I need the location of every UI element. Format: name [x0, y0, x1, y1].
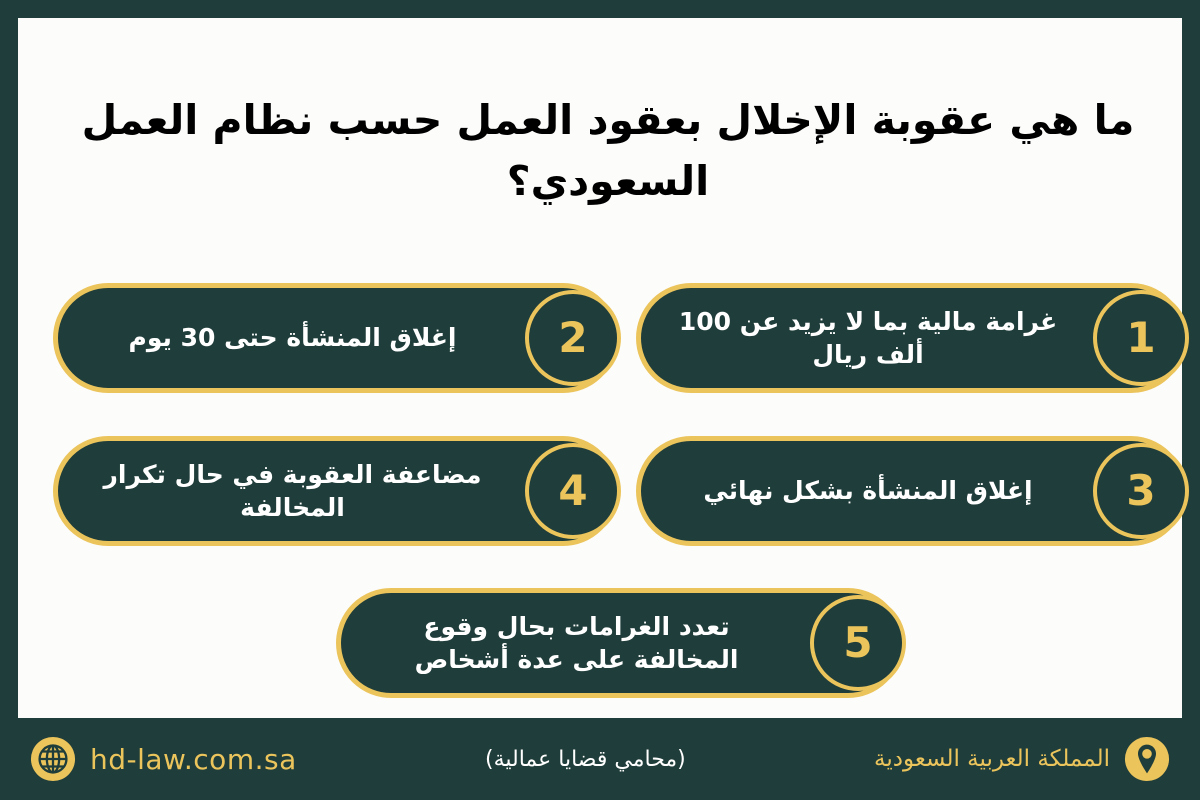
answer-card-4-text: مضاعفة العقوبة في حال تكرار المخالفة [84, 441, 501, 541]
footer-bar: المملكة العربية السعودية (محامي قضايا عم… [0, 718, 1200, 800]
infographic-page: ما هي عقوبة الإخلال بعقود العمل حسب نظام… [0, 0, 1200, 800]
footer-website-group[interactable]: hd-law.com.sa [30, 736, 297, 782]
footer-website-url[interactable]: hd-law.com.sa [90, 743, 297, 776]
answer-card-2[interactable]: إغلاق المنشأة حتى 30 يوم 2 [53, 283, 618, 393]
answer-card-1[interactable]: غرامة مالية بما لا يزيد عن 100 ألف ريال … [636, 283, 1186, 393]
answer-card-4[interactable]: مضاعفة العقوبة في حال تكرار المخالفة 4 [53, 436, 618, 546]
answer-card-2-text: إغلاق المنشأة حتى 30 يوم [84, 288, 501, 388]
answer-card-1-text: غرامة مالية بما لا يزيد عن 100 ألف ريال [667, 288, 1069, 388]
content-canvas: ما هي عقوبة الإخلال بعقود العمل حسب نظام… [18, 18, 1182, 782]
answer-card-1-badge: 1 [1093, 290, 1189, 386]
answer-card-3[interactable]: إغلاق المنشأة بشكل نهائي 3 [636, 436, 1186, 546]
answer-card-5-text: تعدد الغرامات بحال وقوع المخالفة على عدة… [367, 593, 786, 693]
location-pin-icon [1124, 736, 1170, 782]
answer-card-4-badge: 4 [525, 443, 621, 539]
footer-country-group: المملكة العربية السعودية [874, 736, 1170, 782]
answer-card-3-text: إغلاق المنشأة بشكل نهائي [667, 441, 1069, 541]
answer-card-5[interactable]: تعدد الغرامات بحال وقوع المخالفة على عدة… [336, 588, 903, 698]
answer-card-3-badge: 3 [1093, 443, 1189, 539]
footer-country-label: المملكة العربية السعودية [874, 746, 1110, 772]
answer-card-5-badge: 5 [810, 595, 906, 691]
globe-icon [30, 736, 76, 782]
footer-tagline: (محامي قضايا عمالية) [297, 747, 874, 772]
answer-card-2-badge: 2 [525, 290, 621, 386]
page-title: ما هي عقوبة الإخلال بعقود العمل حسب نظام… [68, 90, 1148, 211]
